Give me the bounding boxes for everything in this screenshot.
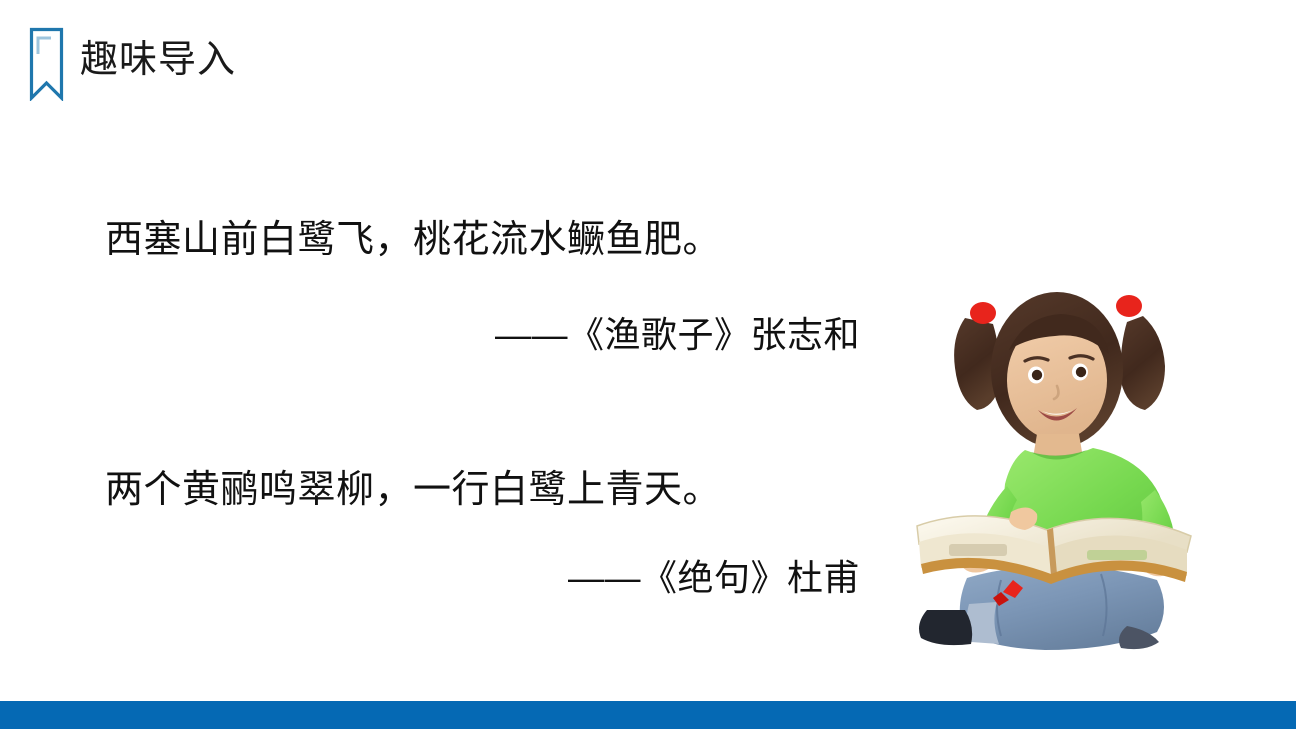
poem-attribution-2: ——《绝句》杜甫 [50,556,860,600]
bookmark-ribbon-icon [29,27,64,101]
slide: 趣味导入 西塞山前白鹭飞，桃花流水鳜鱼肥。 ——《渔歌子》张志和 两个黄鹂鸣翠柳… [0,0,1296,729]
page-title: 趣味导入 [80,38,236,82]
poem-attribution-1: ——《渔歌子》张志和 [50,313,860,357]
footer-accent-bar [0,701,1296,729]
girl-reading-book-photo [905,258,1215,656]
poem-line-1: 西塞山前白鹭飞，桃花流水鳜鱼肥。 [105,217,721,263]
poem-line-2: 两个黄鹂鸣翠柳，一行白鹭上青天。 [105,467,721,513]
slide-header: 趣味导入 [0,0,1296,120]
